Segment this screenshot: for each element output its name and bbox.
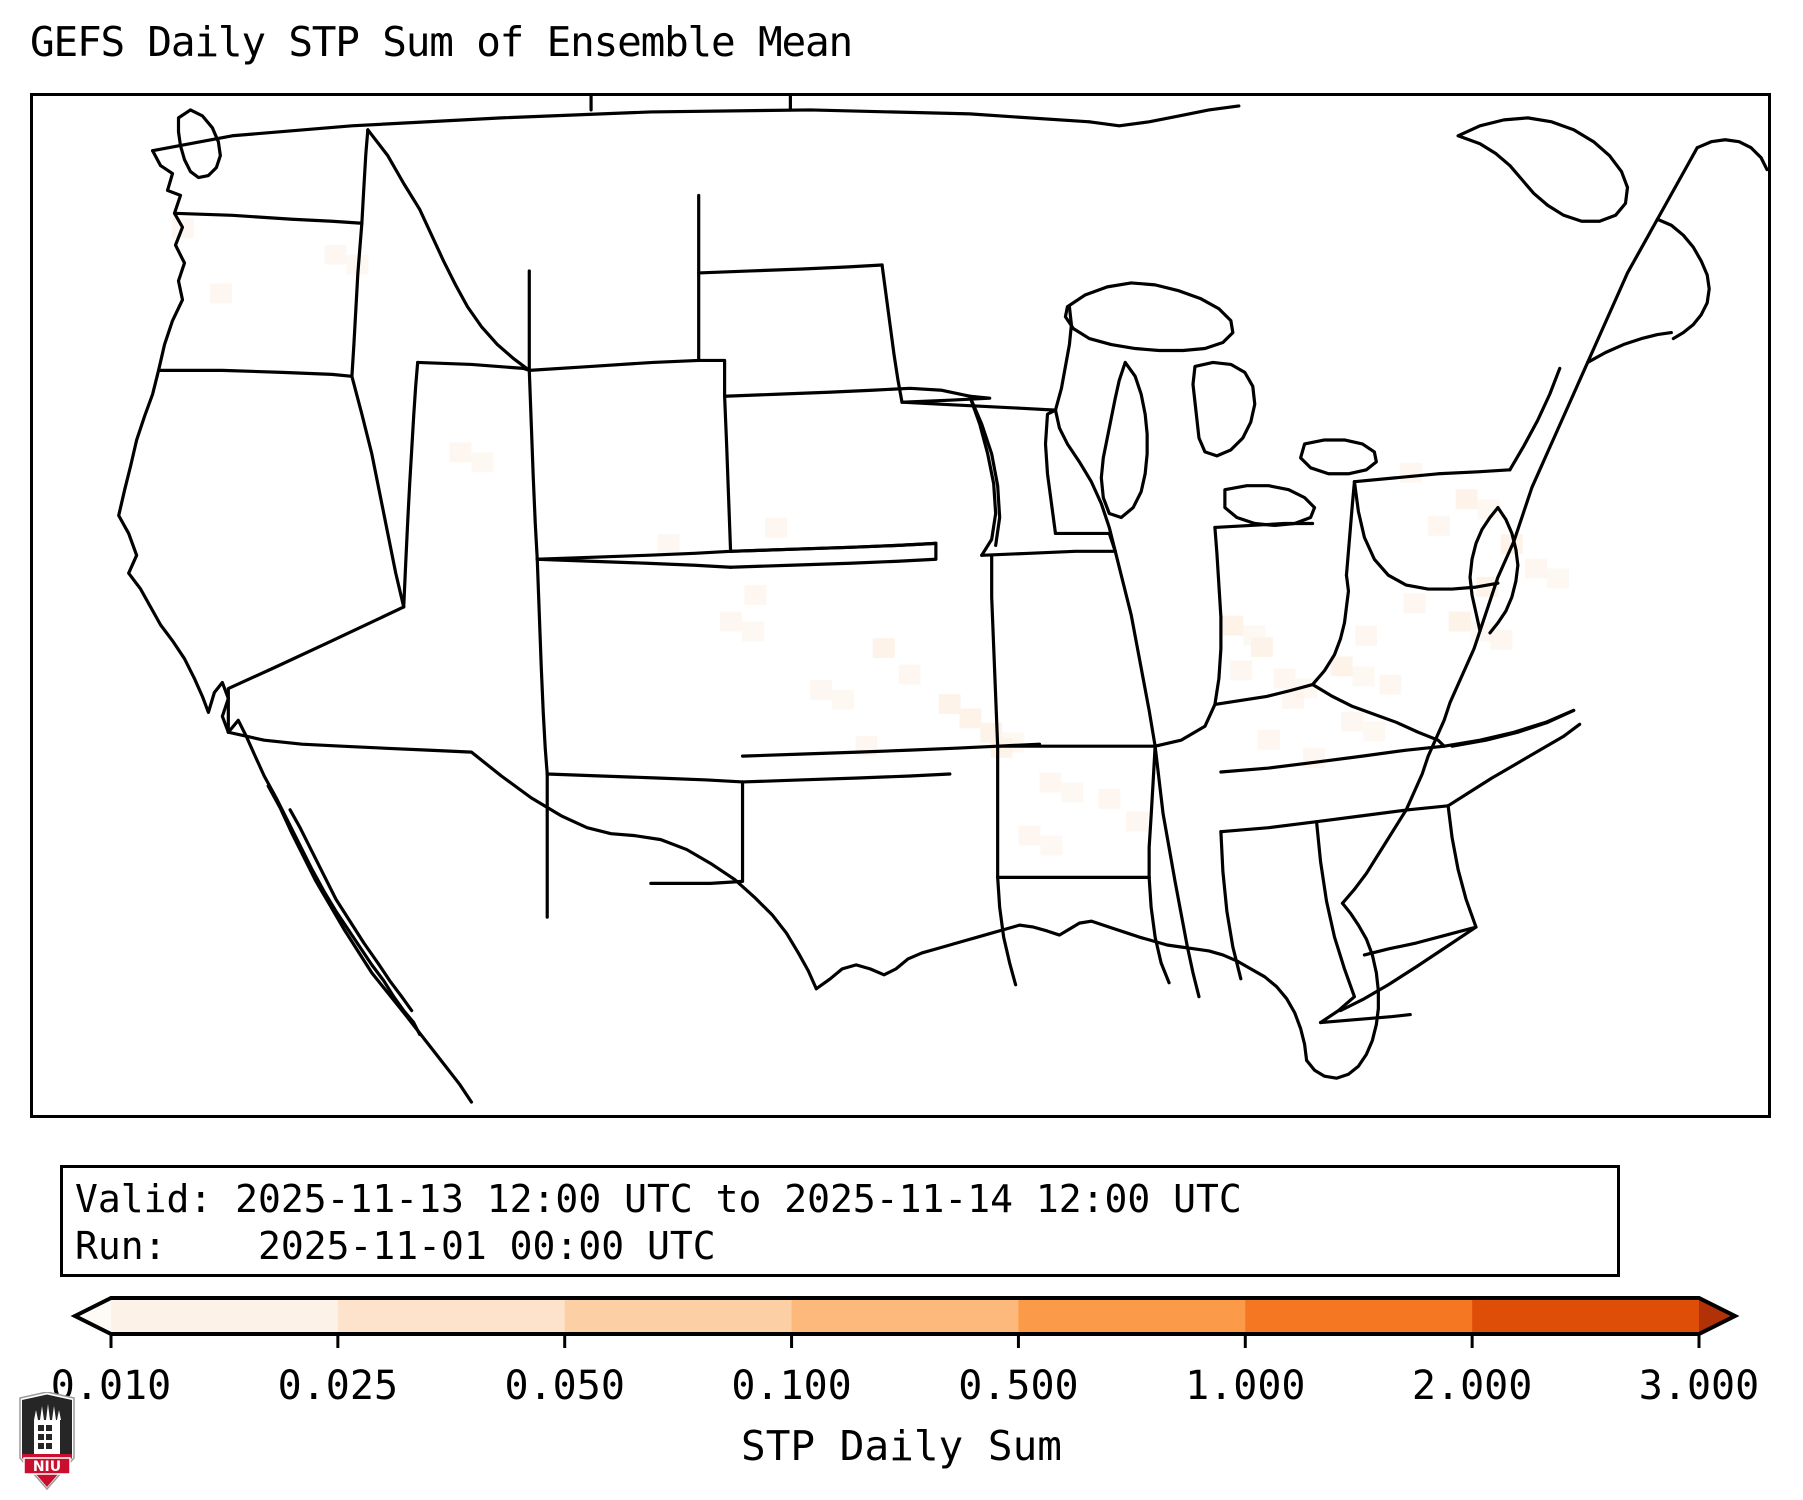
state-border-mt-wy	[529, 360, 698, 370]
lake-michigan	[1101, 362, 1147, 517]
border-us-canada	[153, 110, 1090, 151]
state-border-ok-panhandle	[743, 774, 950, 782]
state-border-in-ky	[1215, 685, 1313, 705]
coastline-chesapeake	[1470, 508, 1498, 631]
state-border-ne-east	[970, 396, 996, 555]
coastline-mex-west	[268, 786, 471, 1102]
lake-huron	[1193, 362, 1255, 455]
coastline-florida	[1307, 903, 1379, 1078]
state-border-tn-ms-al-ga	[1221, 806, 1448, 832]
colorbar-band-1	[338, 1298, 565, 1334]
coastline-newengland	[1657, 219, 1709, 338]
lake-ontario	[1301, 440, 1377, 474]
colorbar-tick-label-2: 0.050	[504, 1363, 624, 1409]
state-border-ia-il	[1055, 410, 1115, 551]
logo-banner-text: NIU	[33, 1459, 61, 1475]
coastline-west	[119, 151, 229, 733]
state-border-la-ms	[1149, 877, 1169, 982]
annotation-box: Valid: 2025-11-13 12:00 UTC to 2025-11-1…	[60, 1165, 1620, 1277]
colorbar-band-2	[565, 1298, 792, 1334]
state-border-al-ga	[1317, 822, 1355, 1023]
state-border-id-ut-nv	[418, 362, 530, 370]
colorbar-band-6	[1472, 1298, 1699, 1334]
state-border-ut-az	[537, 559, 547, 774]
coastline-maritime	[1697, 140, 1767, 170]
run-time-line: Run: 2025-11-01 00:00 UTC	[75, 1223, 1617, 1270]
state-border-nc-sc	[1364, 927, 1476, 955]
coastline-bc	[1089, 106, 1238, 126]
state-border-pa-ny	[1354, 470, 1509, 482]
canada-east-coast	[1458, 118, 1627, 221]
state-border-ut-co-south	[537, 559, 730, 567]
state-border-wi-mi	[1045, 410, 1055, 533]
state-border-or-ca	[159, 370, 352, 376]
colorbar-tick-label-5: 1.000	[1185, 1363, 1305, 1409]
map-geography	[33, 96, 1768, 1115]
state-border-ga-sc-nc	[1340, 806, 1476, 1011]
state-border-ga-fl	[1321, 1015, 1411, 1023]
map-axes[interactable]	[30, 93, 1771, 1118]
colorbar-tick-label-7: 3.000	[1639, 1363, 1759, 1409]
state-border-wy-south	[537, 551, 730, 559]
state-border-wa-id	[362, 130, 368, 223]
state-border-nm-tx	[651, 782, 743, 883]
state-border-mo-il	[1115, 551, 1155, 746]
state-border-ne-ks	[731, 543, 936, 551]
colorbar-extend-max	[1699, 1298, 1735, 1334]
colorbar-band-5	[1245, 1298, 1472, 1334]
state-border-il-in	[1155, 527, 1221, 746]
state-border-ny-ne	[1510, 368, 1560, 469]
state-border-sd-ne	[725, 388, 970, 396]
state-border-ky-wv-va	[1313, 685, 1445, 747]
colorbar-tick-label-4: 0.500	[958, 1363, 1078, 1409]
state-border-tn-nc-line	[1448, 724, 1580, 806]
colorbar-tick-label-3: 0.100	[731, 1363, 851, 1409]
state-border-mn-ia-wi	[902, 402, 1055, 410]
state-border-ky-tn	[1221, 746, 1444, 772]
colorbar-svg	[0, 1292, 1803, 1356]
colorbar-tick-label-1: 0.025	[278, 1363, 398, 1409]
state-border-ca-nv	[228, 376, 403, 732]
state-border-id-mt	[368, 130, 529, 371]
state-border-oh-ky-wv	[1313, 575, 1349, 684]
delmarva-peninsula	[1490, 508, 1518, 633]
state-border-oh-pa	[1346, 482, 1354, 575]
state-border-nv-ut	[404, 362, 418, 607]
state-border-co-nm	[547, 774, 742, 782]
state-border-nd-sd	[699, 265, 882, 273]
state-border-mo-ks	[992, 555, 998, 746]
lake-superior	[1065, 283, 1232, 351]
colorbar-tick-label-6: 2.000	[1412, 1363, 1532, 1409]
coastline-east	[1342, 148, 1697, 904]
state-border-nd-mn	[882, 265, 902, 402]
state-border-wa-or	[175, 213, 362, 223]
state-border-pa-md-wv	[1354, 482, 1498, 589]
state-border-wi-il	[1055, 533, 1115, 551]
state-border-wy-ne-sd	[699, 360, 731, 551]
state-border-in-oh	[1215, 523, 1313, 527]
colorbar[interactable]	[0, 1292, 1803, 1356]
state-border-or-id	[352, 223, 362, 376]
colorbar-band-4	[1018, 1298, 1245, 1334]
colorbar-axis-label: STP Daily Sum	[0, 1422, 1803, 1470]
colorbar-extend-min	[75, 1298, 111, 1334]
niu-logo: NIU	[16, 1392, 78, 1490]
state-border-ar-ms	[1149, 746, 1155, 877]
state-border-ia-mo	[982, 551, 1116, 555]
state-border-wy-co-ut	[529, 370, 537, 559]
page-title: GEFS Daily STP Sum of Ensemble Mean	[30, 18, 852, 66]
colorbar-band-0	[111, 1298, 338, 1334]
colorbar-band-3	[792, 1298, 1019, 1334]
coastline-gulf-of-california	[290, 810, 412, 1011]
state-border-ks-ok	[743, 744, 1040, 756]
lake-erie	[1225, 486, 1315, 526]
valid-time-line: Valid: 2025-11-13 12:00 UTC to 2025-11-1…	[75, 1176, 1617, 1223]
